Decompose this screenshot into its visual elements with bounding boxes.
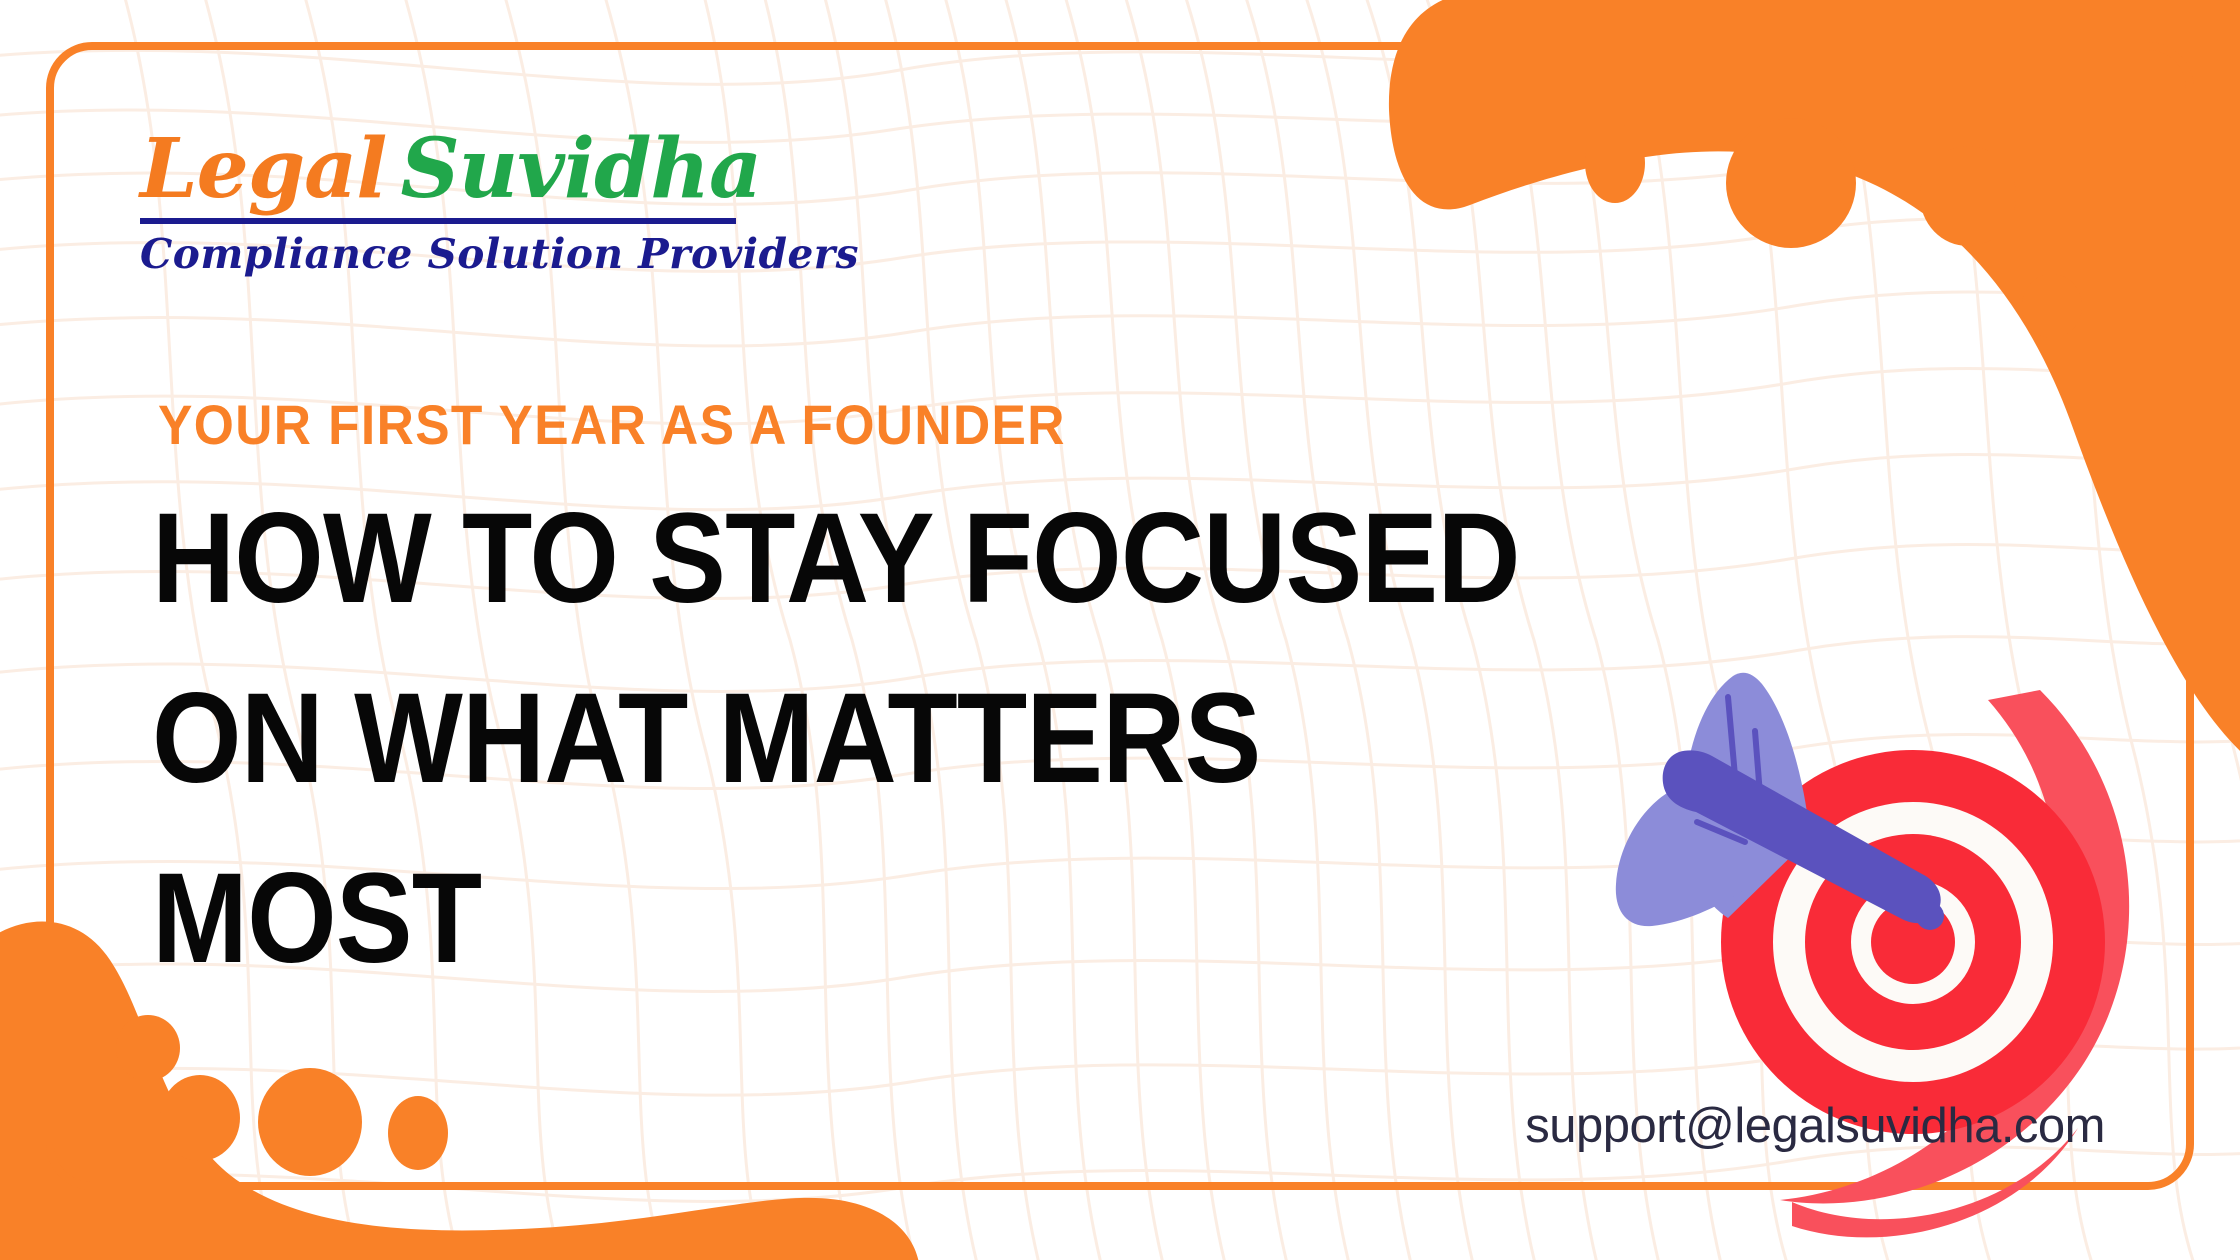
poster-eyebrow-text: YOUR FIRST YEAR AS A FOUNDER [158,392,1066,457]
headline-line-3: MOST [152,855,1556,983]
logo-wordmark: LegalSuvidha [140,128,760,210]
headline-line-2: ON WHAT MATTERS [152,675,1556,803]
logo-word-suvidha: Suvidha [400,121,761,217]
headline-line-1: HOW TO STAY FOCUSED [152,495,1556,623]
logo-tagline: Compliance Solution Providers [140,230,754,278]
brand-logo: LegalSuvidha Compliance Solution Provide… [140,128,760,278]
contact-email: support@legalsuvidha.com [1485,1098,2105,1154]
poster-canvas: LegalSuvidha Compliance Solution Provide… [0,0,2240,1260]
logo-divider-rule [140,218,736,224]
poster-headline: HOW TO STAY FOCUSED ON WHAT MATTERS MOST [152,495,1712,1035]
logo-word-legal: Legal [140,121,386,217]
